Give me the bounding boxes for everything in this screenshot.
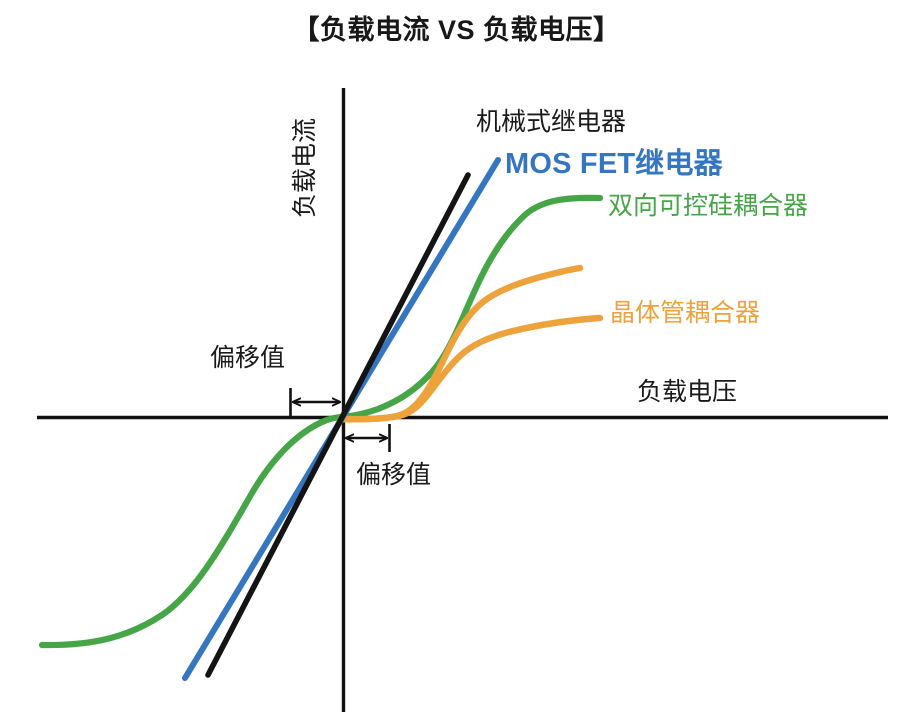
series-label-transistor-coupler: 晶体管耦合器 bbox=[610, 293, 760, 329]
offset-label-right: 偏移值 bbox=[356, 455, 431, 491]
series-label-triac-coupler: 双向可控硅耦合器 bbox=[608, 186, 808, 222]
series-label-mosfet-relay: MOS FET继电器 bbox=[505, 140, 723, 182]
y-axis-label: 负载电流 bbox=[285, 93, 321, 243]
offset-label-left: 偏移值 bbox=[210, 338, 285, 374]
series-label-mechanical-relay: 机械式继电器 bbox=[476, 102, 626, 138]
series-transistor-coupler-lower bbox=[343, 318, 600, 419]
series-triac-coupler-curve bbox=[42, 198, 600, 645]
chart-canvas: 【负载电流 VS 负载电压】 负载电流 bbox=[0, 0, 913, 728]
chart-plot-area bbox=[0, 0, 913, 728]
x-axis-label: 负载电压 bbox=[637, 372, 737, 408]
series-mechanical-relay-line bbox=[208, 175, 468, 675]
